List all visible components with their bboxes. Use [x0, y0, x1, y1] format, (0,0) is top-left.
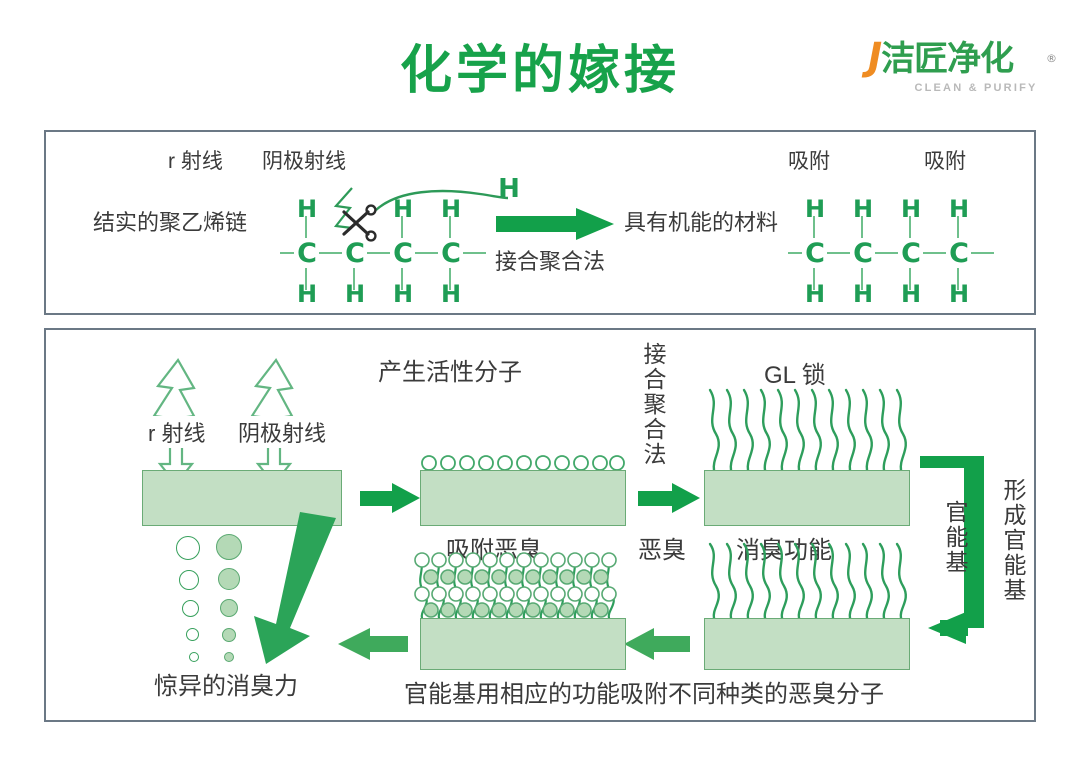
ray-label-cathode-top: 阴极射线 [262, 145, 346, 175]
atom-h-top-4: H [438, 195, 464, 223]
registered-mark: ® [1046, 36, 1056, 82]
step-label-odor: 恶臭 [638, 530, 686, 565]
atom-h-top-r1: H [802, 195, 828, 223]
atom-h-bottom-3: H [390, 280, 416, 308]
bottom-caption: 官能基用相应的功能吸附不同种类的恶臭分子 [404, 674, 884, 709]
atom-c-r4: C [946, 238, 972, 269]
atom-h-top-r3: H [898, 195, 924, 223]
right-chain-caption: 具有机能的材料 [624, 205, 778, 237]
ray-label-gamma-top: r 射线 [168, 145, 223, 175]
bubble-hollow-5 [189, 652, 199, 662]
bubble-hollow-4 [186, 628, 199, 641]
bubble-hollow-2 [179, 570, 199, 590]
atom-h-top-3: H [390, 195, 416, 223]
polyethylene-chain-right: C C C C H H H H H H H H [788, 180, 1008, 305]
polymer-strands-top-graphic [706, 388, 914, 472]
atom-h-bottom-r2: H [850, 280, 876, 308]
atom-h-bottom-r1: H [802, 280, 828, 308]
step-label-gl-lock: GL 锁 [764, 355, 826, 390]
grafting-arrow [496, 208, 614, 238]
logo-wordmark: J洁匠净化 ® [868, 34, 1058, 82]
atom-h-top-r2: H [850, 195, 876, 223]
ray-label-gamma-bottom: r 射线 [146, 416, 207, 448]
slide-header: 化学的嫁接 J洁匠净化 ® CLEAN & PURIFY [0, 0, 1080, 120]
logo-name: 洁匠净化 [881, 39, 1013, 79]
result-label: 惊异的消臭力 [154, 666, 298, 701]
atom-c-r2: C [850, 238, 876, 269]
substrate-block-step3 [704, 470, 910, 526]
brand-logo: J洁匠净化 ® CLEAN & PURIFY [868, 34, 1058, 106]
arrow-step5-to-result [338, 628, 408, 660]
ray-label-cathode-bottom: 阴极射线 [236, 416, 328, 448]
left-chain-caption: 结实的聚乙烯链 [93, 205, 247, 237]
atom-h-bottom-4: H [438, 280, 464, 308]
atom-h-top-1: H [294, 195, 320, 223]
substrate-block-step5 [420, 618, 626, 670]
deodorizing-cycle-panel: r 射线 阴极射线 惊异的消臭力 产生活性分子 [44, 328, 1036, 722]
adsorb-label-1: 吸附 [788, 145, 830, 175]
logo-tagline: CLEAN & PURIFY [894, 82, 1058, 94]
atom-h-bottom-r4: H [946, 280, 972, 308]
adsorbed-odor-graphic [412, 552, 628, 620]
atom-c-r3: C [898, 238, 924, 269]
substrate-block-step4 [704, 618, 910, 670]
arrow-step1-to-step2 [360, 483, 422, 513]
adsorb-label-2: 吸附 [924, 145, 966, 175]
polyethylene-chain-left: C C C C H H H H H H H H [280, 180, 530, 305]
atom-h-bottom-2: H [342, 280, 368, 308]
bubble-hollow-1 [176, 536, 200, 560]
atom-c-2: C [342, 238, 368, 269]
arrow-step4-to-step5 [624, 628, 690, 660]
grafting-reaction-panel: r 射线 阴极射线 结实的聚乙烯链 [44, 130, 1036, 315]
polymer-strands-bottom-graphic [706, 542, 914, 620]
atom-c-3: C [390, 238, 416, 269]
atom-h-detached: H [496, 174, 522, 204]
step-label-active-molecule: 产生活性分子 [378, 352, 522, 387]
step-label-functional-group: 官能基 [938, 500, 972, 575]
atom-c-1: C [294, 238, 320, 269]
slide-root: 化学的嫁接 J洁匠净化 ® CLEAN & PURIFY r 射线 阴极射线 结… [0, 0, 1080, 764]
atom-c-4: C [438, 238, 464, 269]
bubble-hollow-3 [182, 600, 199, 617]
arrow-step2-to-step3 [638, 483, 704, 513]
atom-h-bottom-1: H [294, 280, 320, 308]
step-label-form-functional-group: 形成官能基 [996, 478, 1030, 603]
substrate-block-step2 [420, 470, 626, 526]
process-label-graft: 接合聚合法 [495, 244, 605, 276]
atom-h-top-r4: H [946, 195, 972, 223]
logo-j-icon: J [868, 35, 881, 79]
atom-h-bottom-r3: H [898, 280, 924, 308]
atom-c-r1: C [802, 238, 828, 269]
step-label-graft-polymerization: 接合聚合法 [636, 342, 670, 467]
